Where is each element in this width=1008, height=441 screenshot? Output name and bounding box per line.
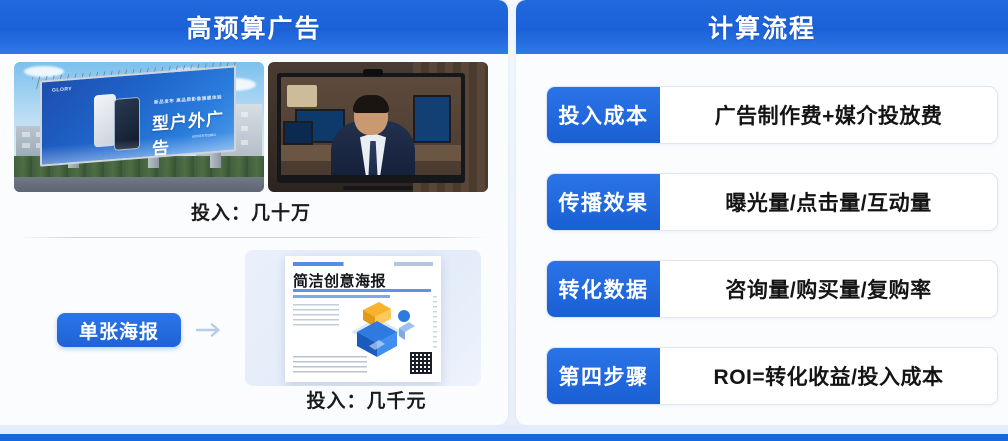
billboard-face: GLORY 新品发布 高品质影像旗舰体验 型户外广告 ADVERTISING [40,65,236,166]
caption-high-budget: 投入：几十万 [14,198,488,225]
step-value-1: 广告制作费+媒介投放费 [660,87,997,143]
left-panel-header: 高预算广告 [0,0,508,54]
step-value-4: ROI=转化收益/投入成本 [660,348,997,404]
step-tag-3: 转化数据 [547,261,660,317]
poster-subtitle-bar [293,295,390,298]
step-tag-2: 传播效果 [547,174,660,230]
arrow-right-icon [196,322,226,338]
caption-poster-budget: 投入：几千元 [245,386,488,413]
step-tag-label: 投入成本 [559,100,649,130]
calculation-step-list: 投入成本 广告制作费+媒介投放费 传播效果 曝光量/点击量/互动量 转化数据 [516,54,1008,425]
step-row-3[interactable]: 转化数据 咨询量/购买量/复购率 [546,260,998,318]
tv-screen [281,77,461,175]
step-value-3: 咨询量/购买量/复购率 [660,261,997,317]
photo-row: GLORY 新品发布 高品质影像旗舰体验 型户外广告 ADVERTISING [14,62,488,192]
right-panel: 计算流程 投入成本 广告制作费+媒介投放费 传播效果 曝光量/点击量/互动量 [516,0,1008,425]
phone-mockup [114,97,140,151]
tv-photo [268,62,488,192]
right-panel-header: 计算流程 [516,0,1008,54]
step-row-4[interactable]: 第四步骤 ROI=转化收益/投入成本 [546,347,998,405]
billboard-text: 型户外广告 [152,103,234,159]
poster-footer-lines [293,356,367,374]
phone-mockup [94,94,116,148]
step-tag-label: 转化数据 [559,274,649,304]
slide-canvas: 高预算广告 [0,0,1008,441]
road [14,177,264,192]
bottom-band [0,425,1008,434]
single-poster-pill-label: 单张海报 [79,317,159,344]
left-panel: 高预算广告 [0,0,508,425]
step-value-label: 曝光量/点击量/互动量 [725,187,931,217]
step-row-1[interactable]: 投入成本 广告制作费+媒介投放费 [546,86,998,144]
poster-side-lines [433,296,437,348]
step-row-2[interactable]: 传播效果 曝光量/点击量/互动量 [546,173,998,231]
bottom-accent-bar [0,434,1008,441]
step-tag-4: 第四步骤 [547,348,660,404]
step-value-label: 咨询量/购买量/复购率 [725,274,931,304]
poster-subtitle-bar [293,289,431,292]
poster-sheet: 简洁创意海报 [285,256,441,382]
step-tag-1: 投入成本 [547,87,660,143]
step-tag-label: 第四步骤 [559,361,649,391]
step-tag-label: 传播效果 [559,187,649,217]
right-panel-title: 计算流程 [708,9,816,45]
single-poster-pill[interactable]: 单张海报 [57,313,181,347]
poster-title: 简洁创意海报 [293,270,386,291]
section-divider [18,237,488,238]
qr-code-icon [410,352,432,374]
billboard-photo: GLORY 新品发布 高品质影像旗舰体验 型户外广告 ADVERTISING [14,62,264,192]
webcam-icon [363,69,383,76]
presenter-hair [353,95,389,113]
poster-header-strip [293,262,433,266]
poster-preview: 简洁创意海报 [245,250,481,386]
left-panel-title: 高预算广告 [186,9,321,45]
step-value-label: 广告制作费+媒介投放费 [715,100,943,130]
step-value-2: 曝光量/点击量/互动量 [660,174,997,230]
step-value-label: ROI=转化收益/投入成本 [714,361,944,391]
tv-stand [343,186,413,190]
